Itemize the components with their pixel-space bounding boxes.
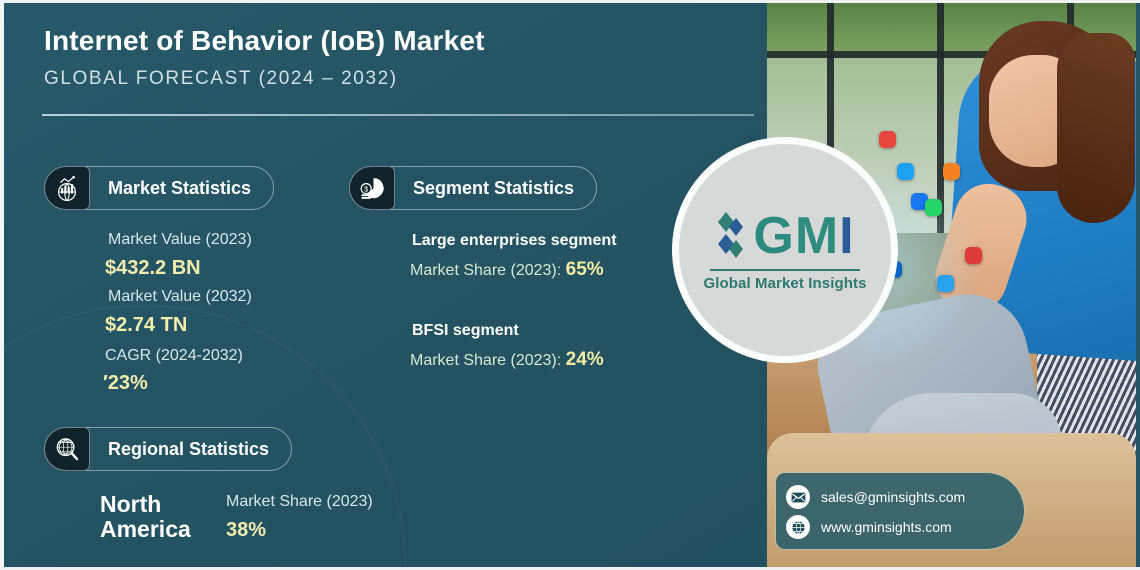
segment-1-name: Large enterprises segment [412,232,617,250]
logo-disc: G M I Global Market Insights [679,144,891,356]
app-icon-whatsapp [925,199,942,216]
app-icon-telegram [937,275,954,292]
segment-2-share-value: 24% [566,349,604,370]
market-value-2032-label: Market Value (2032) [108,288,252,306]
cagr-value: ′23% [103,372,148,395]
segment-1-share: Market Share (2023): 65% [410,259,604,281]
contact-website-row[interactable]: www.gminsights.com [786,512,1024,542]
logo-wordmark: G M I [717,208,852,266]
globe-icon [786,515,810,539]
frame-edge-top [0,0,1140,3]
market-statistics-header: Market Statistics [44,166,274,210]
contact-email-row[interactable]: sales@gminsights.com [786,482,1024,512]
regional-statistics-header: Regional Statistics [44,427,292,471]
logo-rule [710,269,860,271]
contact-email-text: sales@gminsights.com [821,489,965,505]
pie-chart-dollar-icon: $ [349,166,395,210]
region-share-label: Market Share (2023) [226,493,373,511]
logo-letter-g: G [753,212,792,261]
person-hair-front [1057,33,1135,223]
page-subtitle: GLOBAL FORECAST (2024 – 2032) [44,68,398,90]
app-icon-orange [943,163,960,180]
market-value-2023-label: Market Value (2023) [108,231,252,249]
segment-statistics-header: $ Segment Statistics [349,166,597,210]
segment-1-share-value: 65% [566,259,604,280]
segment-2-share: Market Share (2023): 24% [410,349,604,371]
globe-bar-chart-icon [44,166,90,210]
market-value-2023-value: $432.2 BN [105,257,201,280]
globe-magnifier-icon [44,427,90,471]
logo-letter-i: I [839,212,852,261]
logo-tagline: Global Market Insights [703,275,866,292]
regional-statistics-label: Regional Statistics [90,439,291,460]
contact-website-text: www.gminsights.com [821,519,952,535]
diamond-mark-icon [717,208,751,266]
region-share-value: 38% [226,519,266,542]
region-name-line2: America [100,517,191,542]
segment-2-share-label: Market Share (2023): [410,352,561,369]
cagr-label: CAGR (2024-2032) [105,347,243,365]
envelope-icon [786,485,810,509]
region-name: North America [100,492,191,542]
gmi-logo: G M I Global Market Insights [672,137,898,363]
contact-panel: sales@gminsights.com www.gminsights.com [775,472,1025,550]
infographic-root: Internet of Behavior (IoB) Market GLOBAL… [0,0,1140,570]
svg-text:$: $ [364,186,368,193]
market-statistics-label: Market Statistics [90,178,273,199]
app-icon-youtube [965,247,982,264]
segment-2-name: BFSI segment [412,322,519,340]
segment-statistics-label: Segment Statistics [395,178,596,199]
header-divider [42,114,754,116]
app-icon-blue [897,163,914,180]
logo-letter-m: M [795,212,837,261]
region-name-line1: North [100,492,191,517]
left-content-panel: Internet of Behavior (IoB) Market GLOBAL… [4,3,767,567]
page-title: Internet of Behavior (IoB) Market [44,25,485,57]
frame-edge-left [0,0,4,570]
market-value-2032-value: $2.74 TN [105,314,187,337]
segment-1-share-label: Market Share (2023): [410,262,561,279]
